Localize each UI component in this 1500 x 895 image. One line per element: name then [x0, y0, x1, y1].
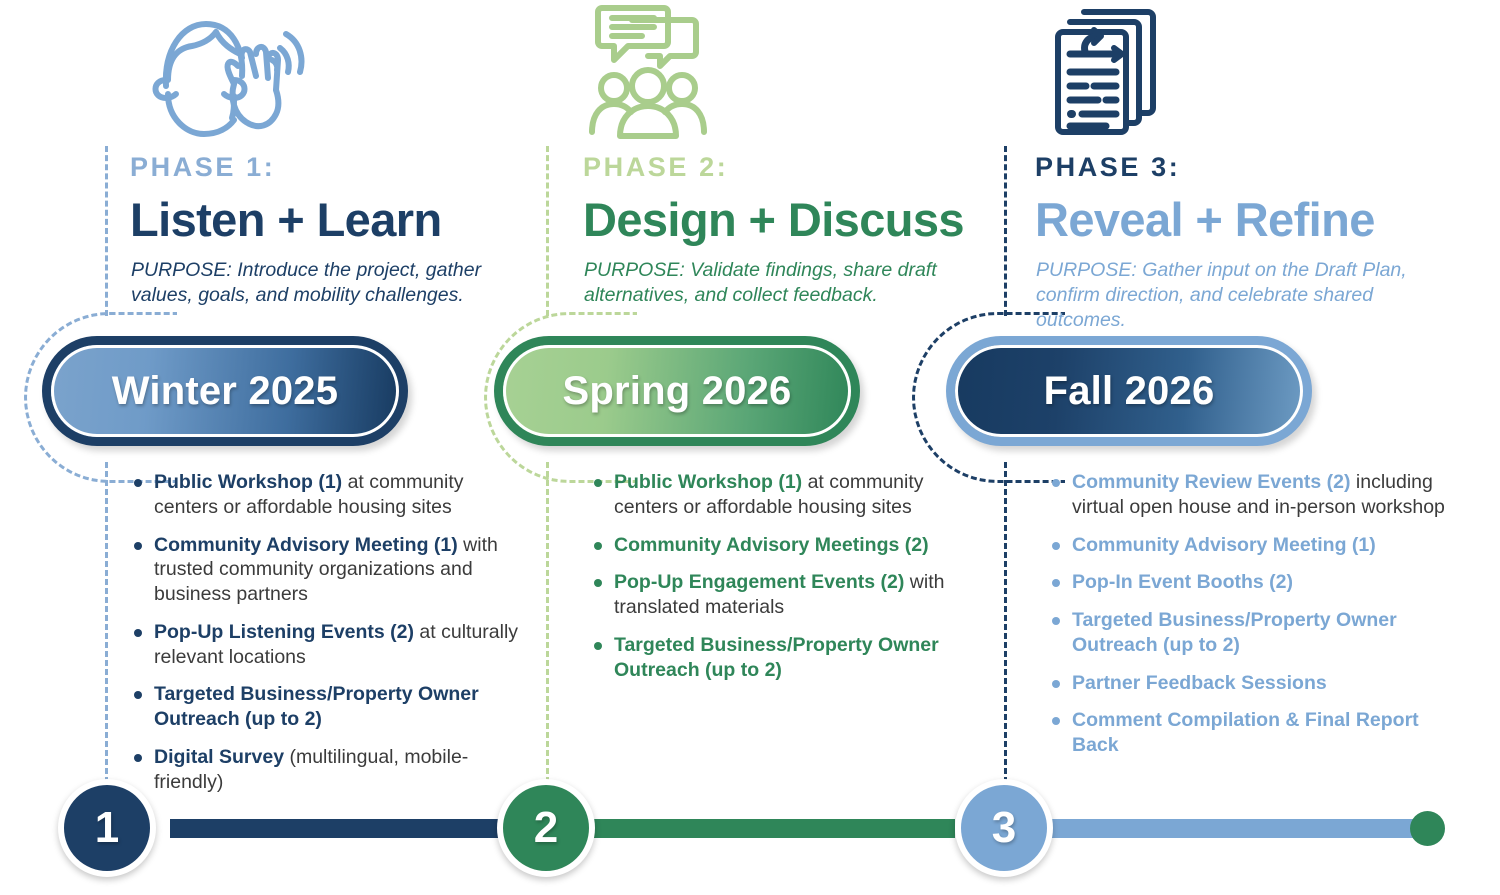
phase-3-activity-list: Community Review Events (2) including vi…: [1048, 470, 1468, 771]
phase-2-purpose-kicker: PURPOSE:: [584, 259, 685, 281]
phase-timeline: 1 2 3: [0, 770, 1500, 895]
timeline-node-3[interactable]: 3: [955, 779, 1053, 877]
timeline-node-1[interactable]: 1: [58, 779, 156, 877]
list-item: Pop-Up Engagement Events (2) with transl…: [590, 570, 970, 620]
list-item-title: Community Advisory Meeting (1): [154, 534, 458, 556]
timeline-segment-1: [170, 819, 515, 838]
list-item: Public Workshop (1) at community centers…: [590, 470, 970, 520]
phase-2-season-badge: Spring 2026: [494, 336, 860, 446]
list-item-title: Digital Survey: [154, 746, 284, 768]
phase-1-dashed-rail-top: [105, 146, 108, 316]
phase-1-dashed-rail-bottom: [105, 462, 108, 792]
list-item-title: Targeted Business/Property Owner Outreac…: [1072, 609, 1397, 656]
phase-1-season-badge-inner: Winter 2025: [51, 345, 399, 437]
list-item-title: Targeted Business/Property Owner Outreac…: [614, 634, 939, 681]
list-item: Community Review Events (2) including vi…: [1048, 470, 1468, 520]
list-item-title: Community Advisory Meeting (1): [1072, 534, 1376, 556]
list-item-title: Public Workshop (1): [614, 471, 802, 493]
phase-3-purpose-kicker: PURPOSE:: [1036, 259, 1137, 281]
people-speech-bubbles-icon: [588, 2, 708, 147]
phase-3-dashed-rail-bottom: [1004, 462, 1007, 792]
list-item: Targeted Business/Property Owner Outreac…: [590, 633, 970, 683]
phase-3-label: PHASE 3:: [1035, 152, 1180, 183]
phase-2-activity-list: Public Workshop (1) at community centers…: [590, 470, 970, 695]
timeline-node-3-number: 3: [992, 803, 1016, 853]
list-item: Pop-In Event Booths (2): [1048, 570, 1468, 595]
list-item-title: Community Review Events (2): [1072, 471, 1350, 493]
phase-3-dashed-rail-top: [1004, 146, 1007, 316]
timeline-end-dot: [1410, 811, 1445, 846]
timeline-segment-3: [1010, 819, 1430, 838]
list-item: Community Advisory Meeting (1): [1048, 533, 1468, 558]
phase-2-purpose: PURPOSE: Validate findings, share draft …: [584, 258, 954, 308]
phase-1-season-label: Winter 2025: [112, 369, 338, 414]
timeline-node-2[interactable]: 2: [497, 779, 595, 877]
list-item-title: Partner Feedback Sessions: [1072, 672, 1327, 694]
listening-ear-icon: [130, 2, 305, 147]
list-item-title: Pop-Up Engagement Events (2): [614, 571, 904, 593]
list-item-title: Pop-Up Listening Events (2): [154, 621, 414, 643]
list-item: Partner Feedback Sessions: [1048, 671, 1468, 696]
list-item-title: Community Advisory Meetings (2): [614, 534, 929, 556]
phase-2-label: PHASE 2:: [583, 152, 728, 183]
phase-1-activity-list: Public Workshop (1) at community centers…: [130, 470, 530, 807]
list-item: Public Workshop (1) at community centers…: [130, 470, 530, 520]
phase-2-title: Design + Discuss: [583, 192, 964, 247]
list-item: Community Advisory Meetings (2): [590, 533, 970, 558]
phase-3-season-label: Fall 2026: [1044, 369, 1215, 414]
list-item: Community Advisory Meeting (1) with trus…: [130, 533, 530, 607]
list-item-title: Comment Compilation & Final Report Back: [1072, 709, 1419, 756]
phase-1-season-badge: Winter 2025: [42, 336, 408, 446]
timeline-node-1-number: 1: [95, 803, 119, 853]
phase-2-season-badge-inner: Spring 2026: [503, 345, 851, 437]
phase-1-purpose-kicker: PURPOSE:: [131, 259, 232, 281]
list-item: Comment Compilation & Final Report Back: [1048, 708, 1468, 758]
list-item-title: Pop-In Event Booths (2): [1072, 571, 1293, 593]
phase-3-title: Reveal + Refine: [1035, 192, 1375, 247]
documents-revision-icon: [1048, 2, 1163, 147]
phase-3-purpose: PURPOSE: Gather input on the Draft Plan,…: [1036, 258, 1466, 333]
timeline-node-2-number: 2: [534, 803, 558, 853]
list-item-title: Targeted Business/Property Owner Outreac…: [154, 683, 479, 730]
list-item: Pop-Up Listening Events (2) at culturall…: [130, 620, 530, 670]
phase-1-title: Listen + Learn: [130, 192, 442, 247]
timeline-segment-2: [555, 819, 955, 838]
phase-2-season-label: Spring 2026: [563, 369, 792, 414]
phase-2-dashed-rail-top: [546, 146, 549, 316]
phase-3-season-badge-inner: Fall 2026: [955, 345, 1303, 437]
list-item: Targeted Business/Property Owner Outreac…: [130, 682, 530, 732]
phase-1-purpose: PURPOSE: Introduce the project, gather v…: [131, 258, 541, 308]
phase-1-label: PHASE 1:: [130, 152, 275, 183]
list-item-title: Public Workshop (1): [154, 471, 342, 493]
phase-3-season-badge: Fall 2026: [946, 336, 1312, 446]
phase-2-dashed-rail-bottom: [546, 462, 549, 792]
list-item: Targeted Business/Property Owner Outreac…: [1048, 608, 1468, 658]
engagement-phases-infographic: PHASE 1: Listen + Learn PURPOSE: Introdu…: [0, 0, 1500, 895]
